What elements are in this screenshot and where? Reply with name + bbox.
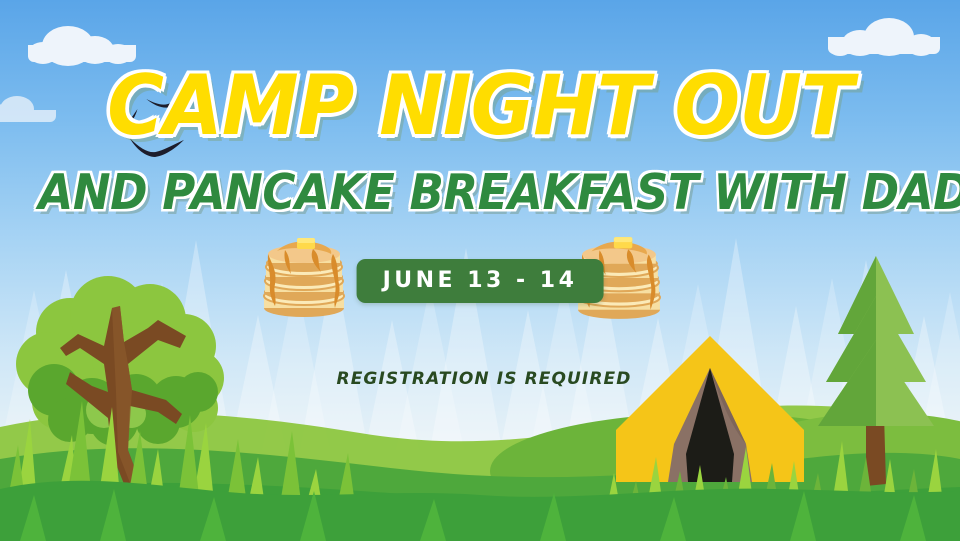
registration-note: REGISTRATION IS REQUIRED bbox=[0, 369, 960, 389]
cloud-top-right bbox=[828, 18, 940, 54]
pancake-stack-svg bbox=[255, 234, 353, 320]
title-block: CAMP NIGHT OUT bbox=[0, 68, 960, 144]
cloud-base bbox=[828, 37, 940, 54]
date-badge: JUNE 13 - 14 bbox=[357, 259, 604, 303]
pancake-stack-left bbox=[255, 234, 353, 320]
page-title: CAMP NIGHT OUT bbox=[34, 68, 927, 144]
page-subtitle: AND PANCAKE BREAKFAST WITH DAD bbox=[38, 168, 921, 217]
camp-night-out-poster: CAMP NIGHT OUT AND PANCAKE BREAKFAST WIT… bbox=[0, 0, 960, 541]
